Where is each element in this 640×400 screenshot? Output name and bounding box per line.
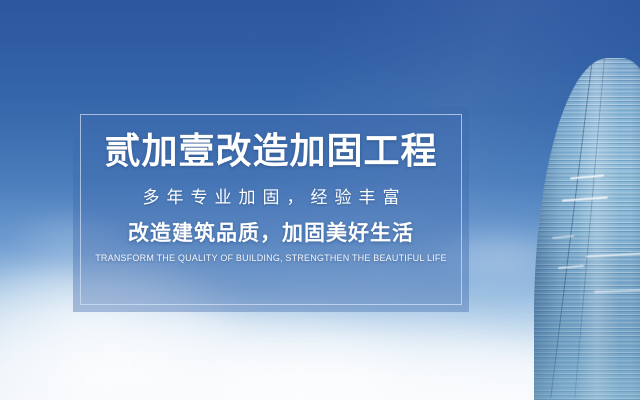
banner-slogan: 改造建筑品质，加固美好生活 (128, 223, 414, 244)
panel-content: 贰加壹改造加固工程 多年专业加固，经验丰富 改造建筑品质，加固美好生活 TRAN… (73, 107, 469, 312)
hero-banner: 贰加壹改造加固工程 多年专业加固，经验丰富 改造建筑品质，加固美好生活 TRAN… (0, 0, 640, 400)
banner-english-tagline: TRANSFORM THE QUALITY OF BUILDING, STREN… (95, 254, 447, 263)
banner-subtitle: 多年专业加固，经验丰富 (136, 189, 407, 206)
skyscraper-building (534, 58, 640, 400)
building-base-glow (534, 280, 640, 400)
translucent-text-panel: 贰加壹改造加固工程 多年专业加固，经验丰富 改造建筑品质，加固美好生活 TRAN… (73, 107, 469, 312)
banner-title: 贰加壹改造加固工程 (104, 133, 437, 169)
